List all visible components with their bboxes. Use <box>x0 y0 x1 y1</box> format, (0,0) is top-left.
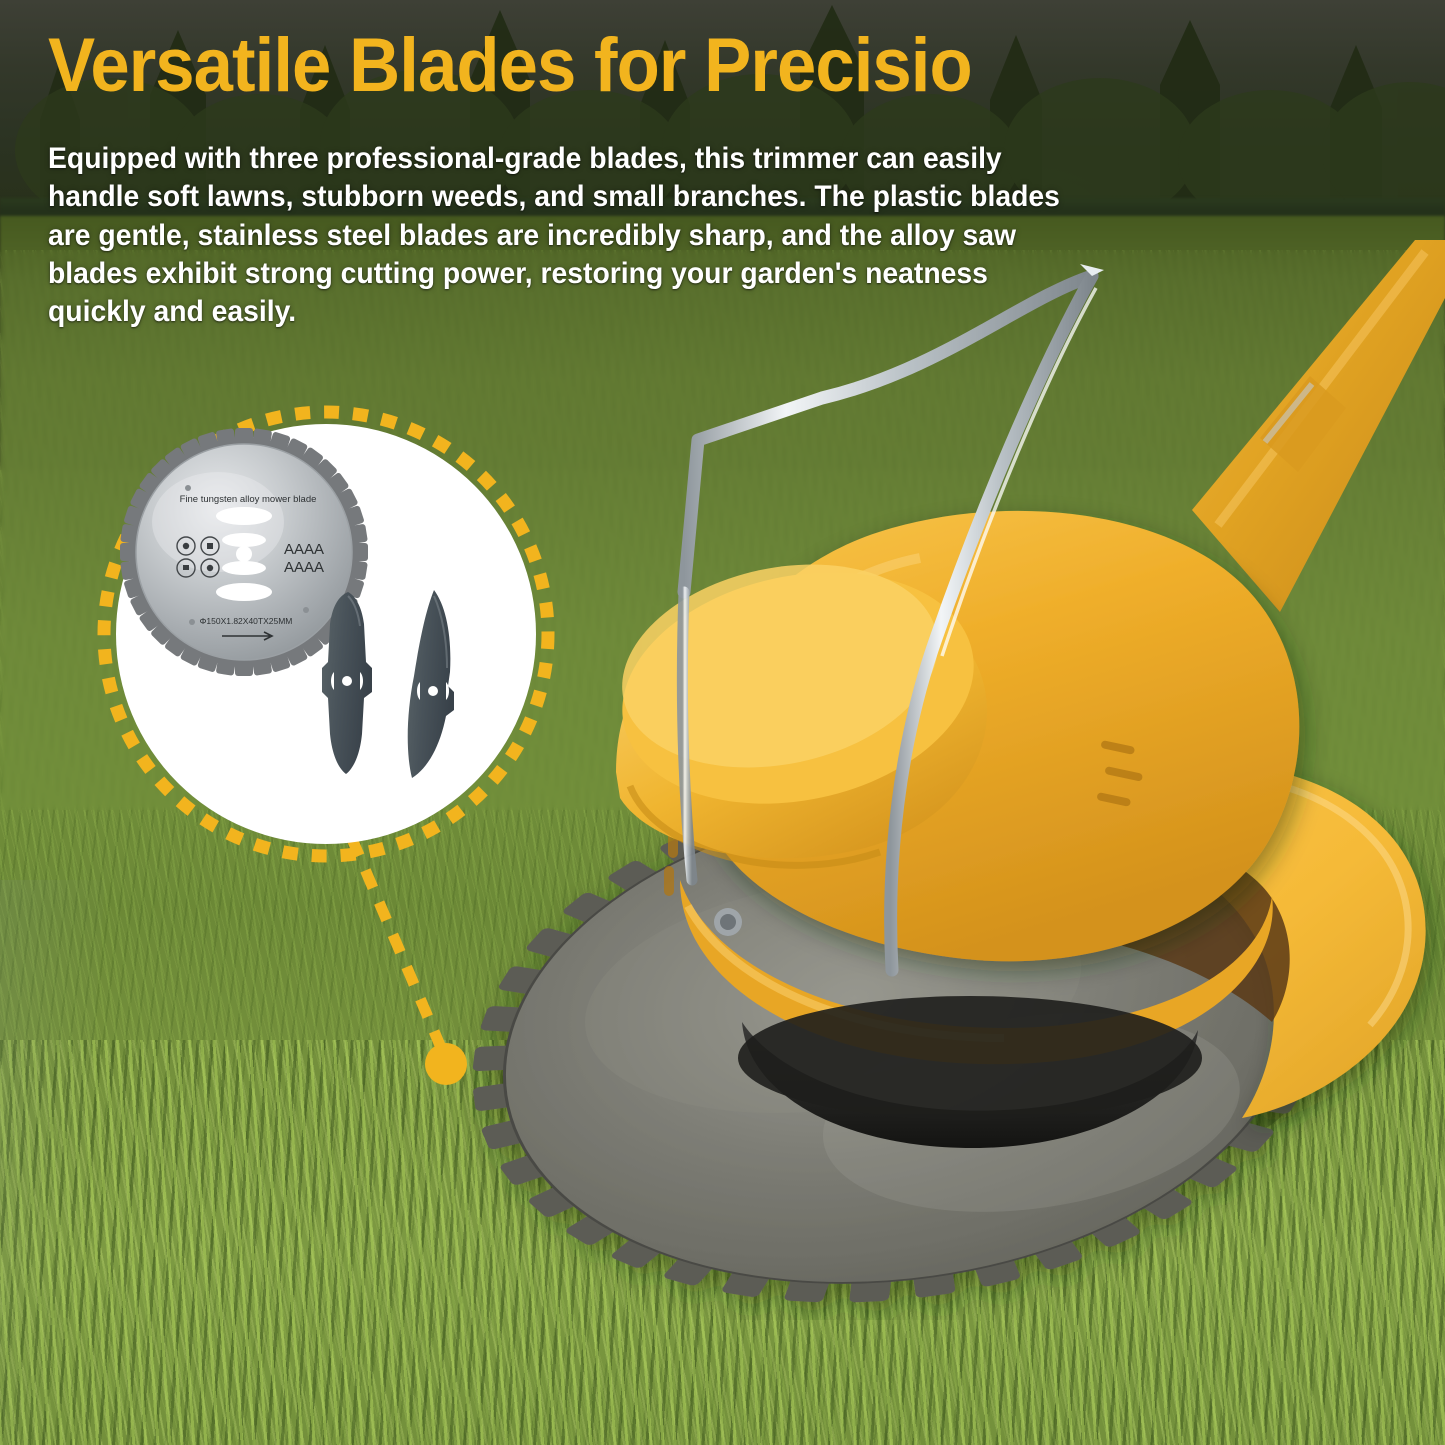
callout-anchor-dot <box>425 1043 467 1085</box>
product-description: Equipped with three professional-grade b… <box>48 140 1080 332</box>
saw-blade-spec-text: Φ150X1.82X40TX25MM <box>200 616 293 626</box>
saw-blade-brand-text: Fine tungsten alloy mower blade <box>180 494 317 505</box>
saw-blade-grade-2: AAAA <box>284 559 324 576</box>
callout-contents: Fine tungsten alloy mower blade AAAA AAA… <box>116 424 536 844</box>
product-marketing-image: Fine tungsten alloy mower blade AAAA AAA… <box>0 0 1445 1445</box>
blade-set-callout: Fine tungsten alloy mower blade AAAA AAA… <box>96 404 556 864</box>
page-title: Versatile Blades for Precisio <box>48 26 972 106</box>
saw-blade-grade-1: AAAA <box>284 541 324 558</box>
curved-steel-blade <box>408 590 454 778</box>
